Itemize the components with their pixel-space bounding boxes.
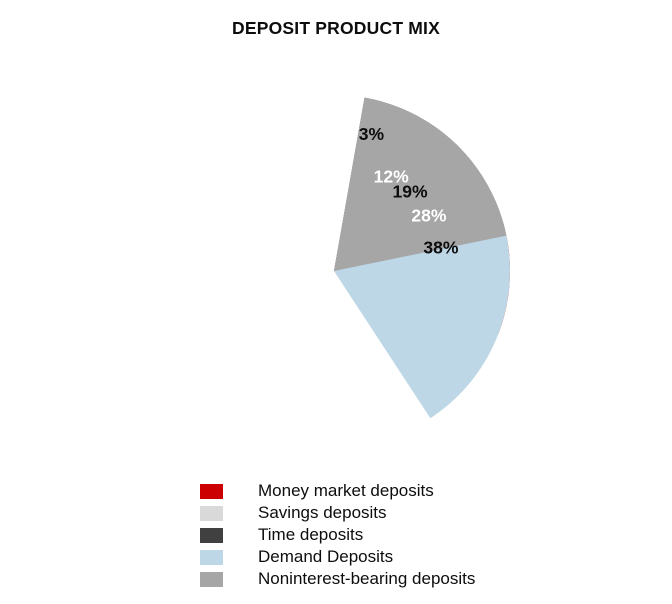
- pie-slices-group: [334, 98, 510, 419]
- pie-slice-value-label: 38%: [423, 238, 458, 258]
- pie-slice-value-label: 28%: [411, 206, 446, 226]
- legend-color-swatch: [200, 550, 223, 565]
- legend-item-label: Noninterest-bearing deposits: [258, 568, 475, 590]
- legend-item-label: Savings deposits: [258, 502, 387, 524]
- pie-slice-value-label: 3%: [359, 124, 385, 144]
- pie-slice-value-label: 19%: [393, 181, 428, 201]
- legend-item-label: Time deposits: [258, 524, 363, 546]
- legend-item[interactable]: Money market deposits: [200, 480, 600, 502]
- legend-color-swatch: [200, 484, 223, 499]
- legend-color-swatch: [200, 572, 223, 587]
- legend-item[interactable]: Time deposits: [200, 524, 600, 546]
- legend-item-label: Demand Deposits: [258, 546, 393, 568]
- legend-item[interactable]: Demand Deposits: [200, 546, 600, 568]
- legend-color-swatch: [200, 528, 223, 543]
- legend-color-swatch: [200, 506, 223, 521]
- legend-item-label: Money market deposits: [258, 480, 434, 502]
- chart-legend: Money market depositsSavings depositsTim…: [200, 480, 600, 590]
- legend-item[interactable]: Savings deposits: [200, 502, 600, 524]
- legend-item[interactable]: Noninterest-bearing deposits: [200, 568, 600, 590]
- pie-chart-figure: DEPOSIT PRODUCT MIX 28%3%12%38%19% Money…: [0, 0, 672, 604]
